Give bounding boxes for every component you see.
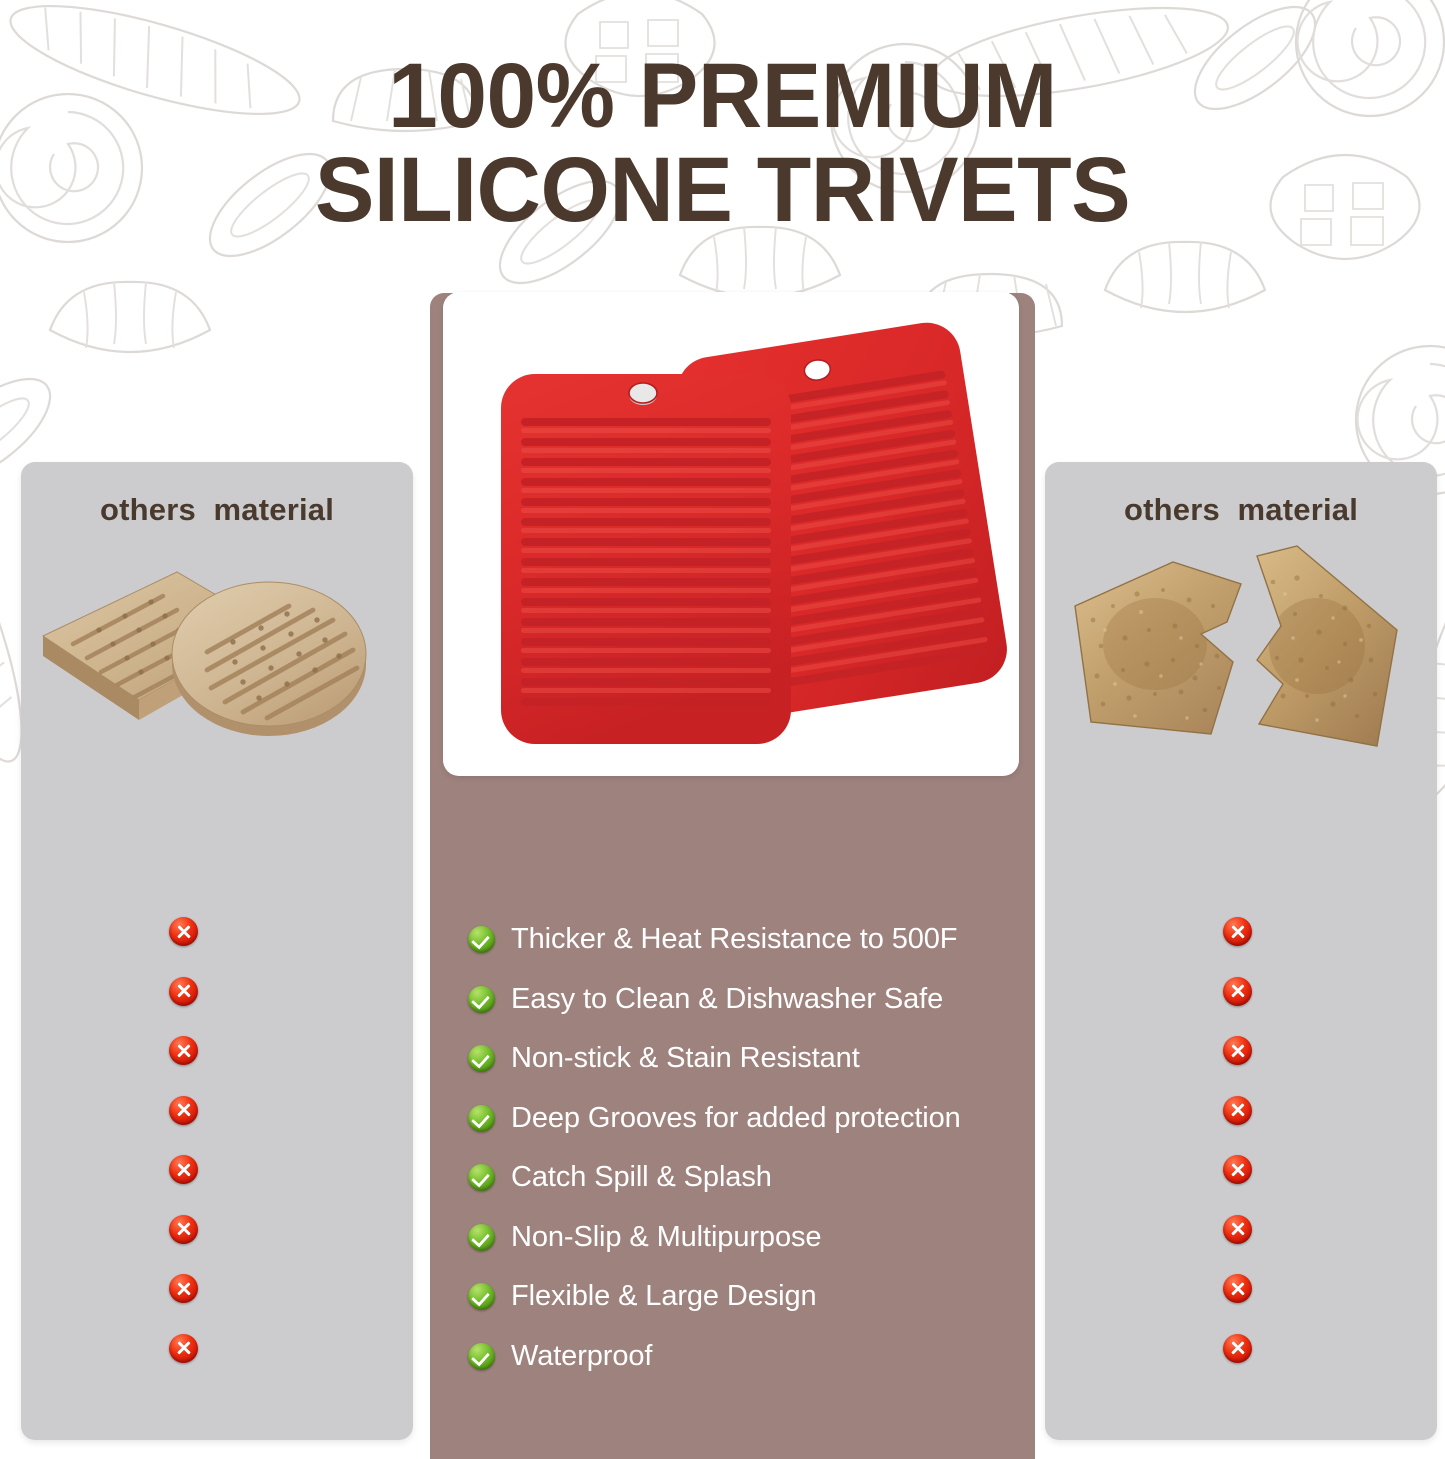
- x-circle-icon: [169, 1155, 198, 1184]
- broken-cork-coaster-icon: [1045, 534, 1437, 784]
- title-line-2: SILICONE TRIVETS: [22, 146, 1424, 234]
- check-circle-icon: [468, 1283, 495, 1310]
- feature-row: Thicker & Heat Resistance to 500F: [468, 910, 1028, 970]
- feature-label: Thicker & Heat Resistance to 500F: [511, 923, 957, 956]
- bamboo-wood-trivets-icon: [21, 534, 413, 784]
- feature-label: Deep Grooves for added protection: [511, 1102, 961, 1135]
- x-mark-row: [1045, 962, 1437, 1022]
- feature-row: Waterproof: [468, 1327, 1028, 1387]
- check-circle-icon: [468, 1105, 495, 1132]
- x-circle-icon: [169, 1036, 198, 1065]
- x-mark-row: [1045, 1081, 1437, 1141]
- x-circle-icon: [169, 1334, 198, 1363]
- x-mark-row: [1045, 1140, 1437, 1200]
- x-mark-row: [1045, 1021, 1437, 1081]
- feature-label: Waterproof: [511, 1340, 652, 1373]
- feature-row: Catch Spill & Splash: [468, 1148, 1028, 1208]
- x-mark-row: [21, 902, 413, 962]
- page-title: 100% PREMIUM SILICONE TRIVETS: [0, 52, 1445, 235]
- feature-row: Non-stick & Stain Resistant: [468, 1029, 1028, 1089]
- others-material-panel-right: others material: [1045, 462, 1437, 1440]
- x-mark-row: [21, 1081, 413, 1141]
- product-image-card: [443, 292, 1019, 776]
- x-circle-icon: [169, 1215, 198, 1244]
- x-circle-icon: [169, 1096, 198, 1125]
- feature-list: Thicker & Heat Resistance to 500F Easy t…: [468, 910, 1028, 1386]
- feature-row: Easy to Clean & Dishwasher Safe: [468, 970, 1028, 1030]
- x-mark-row: [21, 1140, 413, 1200]
- feature-row: Deep Grooves for added protection: [468, 1089, 1028, 1149]
- x-mark-row: [21, 1200, 413, 1260]
- x-circle-icon: [1223, 1155, 1252, 1184]
- red-silicone-trivets-icon: [443, 292, 1019, 776]
- x-mark-row: [1045, 1259, 1437, 1319]
- x-circle-icon: [1223, 1036, 1252, 1065]
- check-circle-icon: [468, 926, 495, 953]
- x-circle-icon: [1223, 1274, 1252, 1303]
- x-mark-row: [1045, 1319, 1437, 1379]
- x-mark-column-right: [1045, 902, 1437, 1378]
- x-mark-row: [1045, 902, 1437, 962]
- x-circle-icon: [1223, 1334, 1252, 1363]
- others-material-panel-left: others material: [21, 462, 413, 1440]
- title-line-1: 100% PREMIUM: [22, 52, 1424, 140]
- x-circle-icon: [1223, 917, 1252, 946]
- x-mark-row: [21, 1259, 413, 1319]
- check-circle-icon: [468, 1164, 495, 1191]
- check-circle-icon: [468, 1224, 495, 1251]
- x-circle-icon: [169, 917, 198, 946]
- x-mark-row: [1045, 1200, 1437, 1260]
- x-circle-icon: [1223, 1215, 1252, 1244]
- feature-label: Non-Slip & Multipurpose: [511, 1221, 821, 1254]
- x-mark-row: [21, 1021, 413, 1081]
- x-mark-row: [21, 1319, 413, 1379]
- x-circle-icon: [1223, 1096, 1252, 1125]
- x-mark-column-left: [21, 902, 413, 1378]
- feature-row: Non-Slip & Multipurpose: [468, 1208, 1028, 1268]
- x-circle-icon: [169, 977, 198, 1006]
- x-circle-icon: [169, 1274, 198, 1303]
- check-circle-icon: [468, 986, 495, 1013]
- feature-label: Easy to Clean & Dishwasher Safe: [511, 983, 943, 1016]
- feature-label: Non-stick & Stain Resistant: [511, 1042, 860, 1075]
- check-circle-icon: [468, 1045, 495, 1072]
- others-material-label-left: others material: [21, 492, 413, 528]
- feature-label: Flexible & Large Design: [511, 1280, 817, 1313]
- feature-label: Catch Spill & Splash: [511, 1161, 772, 1194]
- x-circle-icon: [1223, 977, 1252, 1006]
- others-material-label-right: others material: [1045, 492, 1437, 528]
- x-mark-row: [21, 962, 413, 1022]
- feature-row: Flexible & Large Design: [468, 1267, 1028, 1327]
- check-circle-icon: [468, 1343, 495, 1370]
